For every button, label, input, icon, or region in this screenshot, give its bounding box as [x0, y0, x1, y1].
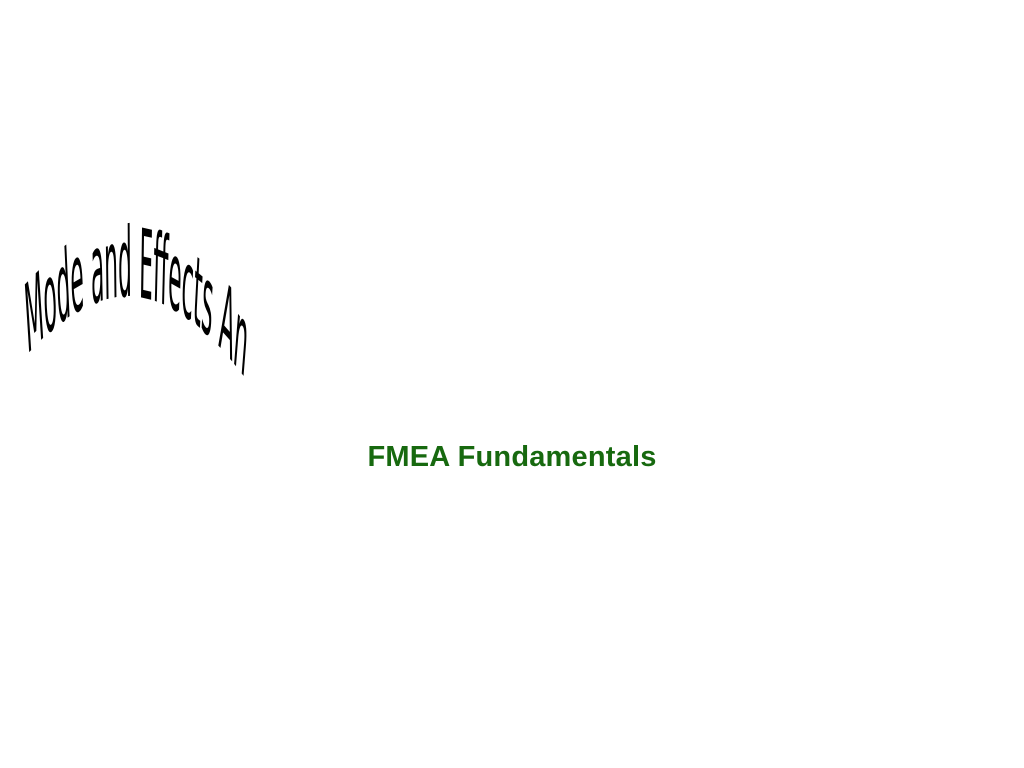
presentation-slide: Failure Mode and Effects Analysis FMEA F…: [0, 0, 1024, 768]
slide-subtitle: FMEA Fundamentals: [0, 440, 1024, 475]
title-arc-text: Failure Mode and Effects Analysis: [0, 210, 252, 400]
slide-subtitle-text: FMEA Fundamentals: [367, 440, 656, 475]
title-textpath: Failure Mode and Effects Analysis: [0, 210, 252, 400]
slide-title-wordart: Failure Mode and Effects Analysis: [0, 210, 1024, 410]
title-arc-svg: Failure Mode and Effects Analysis: [0, 210, 1024, 410]
